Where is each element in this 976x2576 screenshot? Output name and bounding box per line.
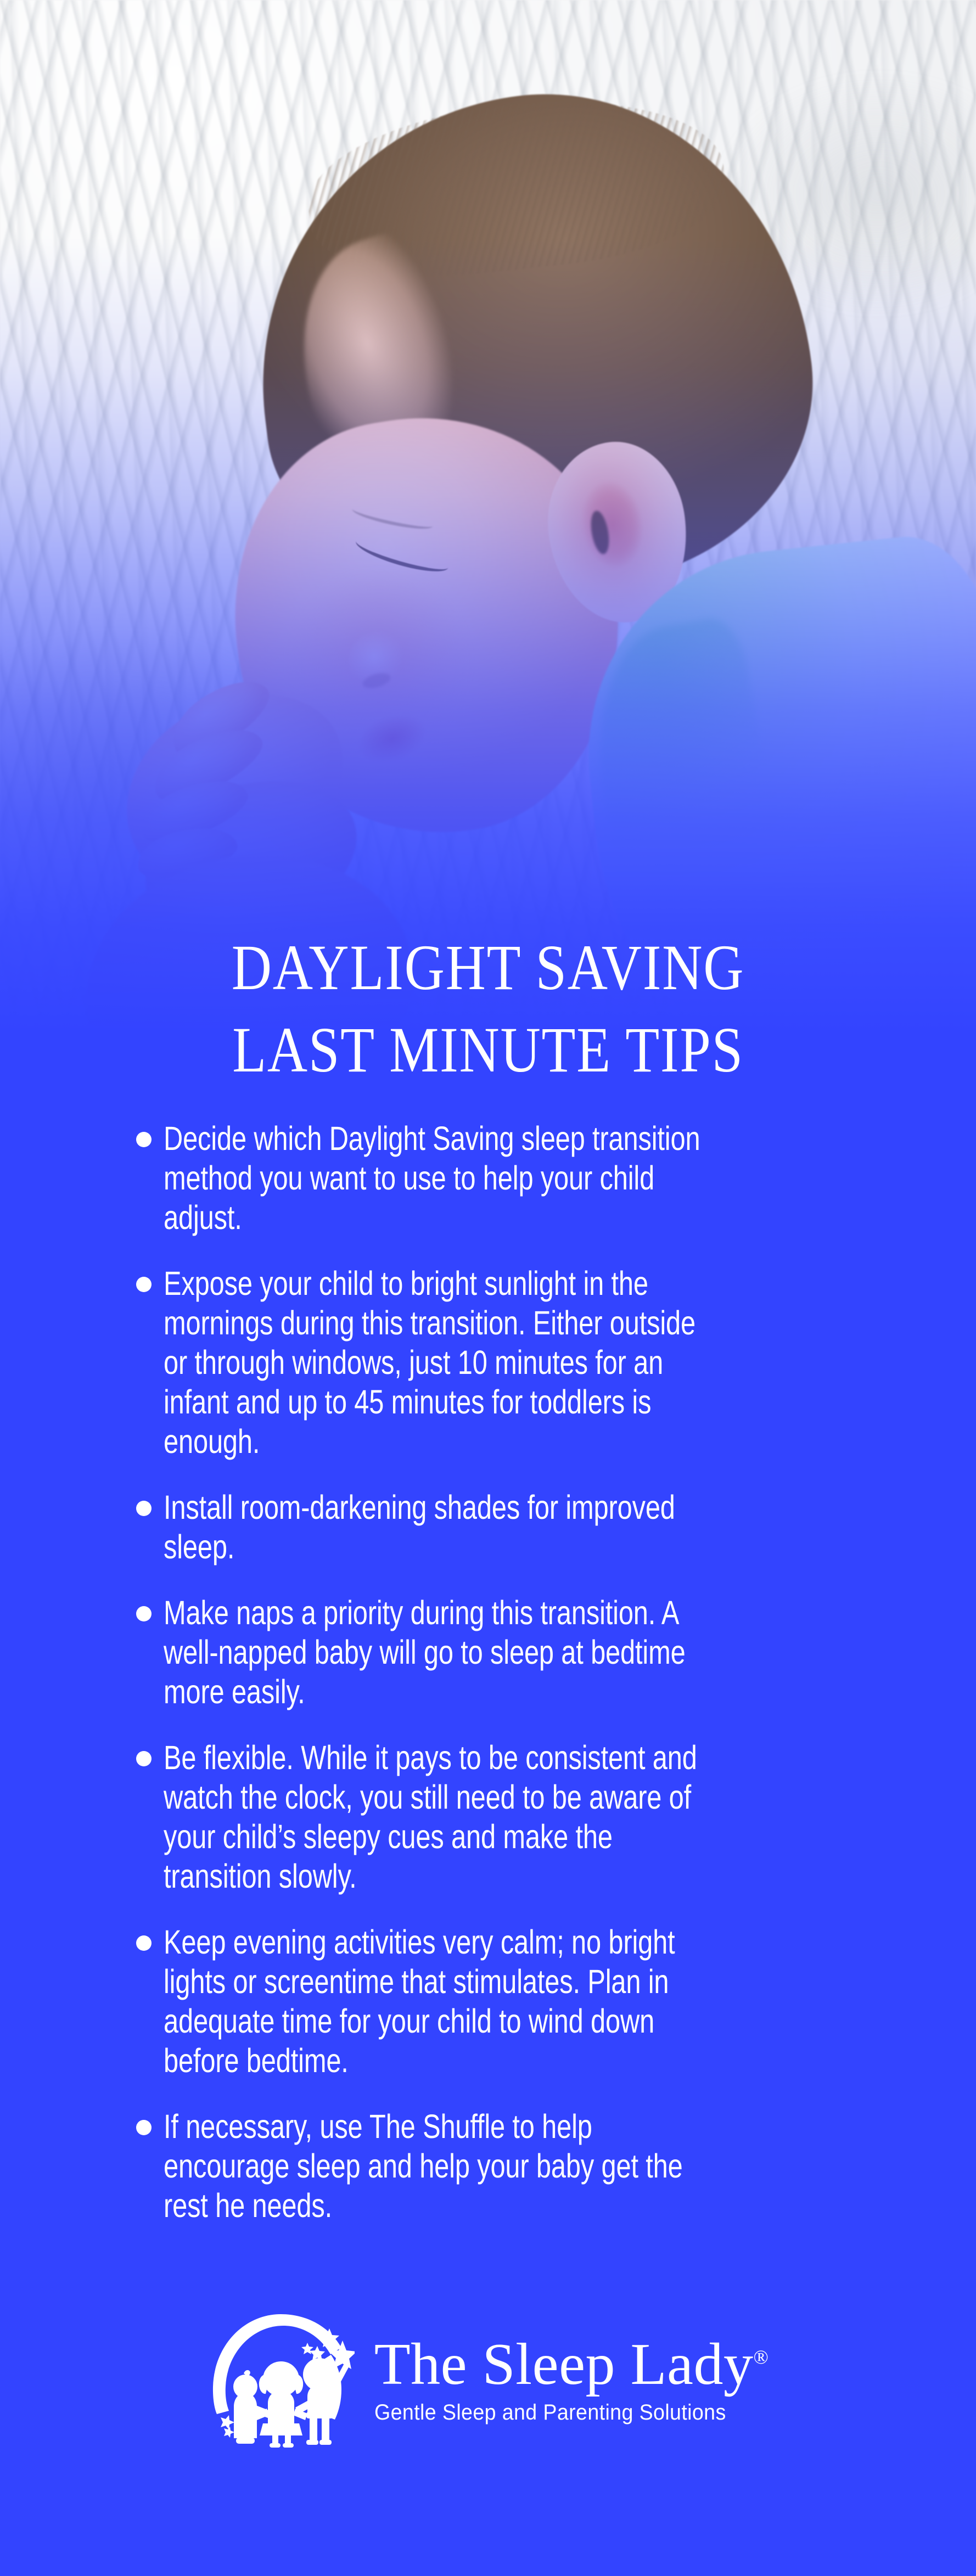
tip-text: If necessary, use The Shuffle to help en…	[164, 2107, 708, 2225]
bullet-icon	[136, 1606, 152, 1621]
tip-text: Decide which Daylight Saving sleep trans…	[164, 1119, 708, 1237]
list-item: Keep evening activities very calm; no br…	[136, 1922, 844, 2080]
tip-text: Make naps a priority during this transit…	[164, 1593, 708, 1711]
list-item: Expose your child to bright sunlight in …	[136, 1264, 844, 1461]
infographic-poster: Daylight Saving Last Minute Tips Decide …	[0, 0, 976, 2576]
brand-logo[interactable]: The Sleep Lady® Gentle Sleep and Parenti…	[0, 2310, 976, 2448]
tip-text: Be flexible. While it pays to be consist…	[164, 1738, 708, 1896]
tip-text: Install room-darkening shades for improv…	[164, 1488, 708, 1567]
brand-name: The Sleep Lady®	[374, 2333, 769, 2397]
bullet-icon	[136, 1751, 152, 1766]
bullet-icon	[136, 1277, 152, 1292]
tips-list: Decide which Daylight Saving sleep trans…	[136, 1119, 844, 2225]
list-item: Decide which Daylight Saving sleep trans…	[136, 1119, 844, 1237]
brand-tagline: Gentle Sleep and Parenting Solutions	[374, 2400, 745, 2425]
bullet-icon	[136, 1935, 152, 1951]
bullet-icon	[136, 1132, 152, 1147]
list-item: If necessary, use The Shuffle to help en…	[136, 2107, 844, 2225]
tip-text: Keep evening activities very calm; no br…	[164, 1922, 708, 2080]
sleep-lady-crescent-children-icon	[207, 2310, 355, 2448]
registered-trademark-icon: ®	[753, 2346, 769, 2368]
bullet-icon	[136, 1501, 152, 1516]
tip-text: Expose your child to bright sunlight in …	[164, 1264, 708, 1461]
list-item: Make naps a priority during this transit…	[136, 1593, 844, 1711]
brand-logo-text: The Sleep Lady® Gentle Sleep and Parenti…	[374, 2333, 769, 2425]
title-line-2: Last Minute Tips	[68, 1009, 907, 1091]
poster-content: Daylight Saving Last Minute Tips Decide …	[0, 0, 976, 2576]
title-line-1: Daylight Saving	[68, 927, 907, 1009]
bullet-icon	[136, 2120, 152, 2135]
brand-name-text: The Sleep Lady	[374, 2332, 754, 2397]
page-title: Daylight Saving Last Minute Tips	[0, 927, 976, 1091]
list-item: Be flexible. While it pays to be consist…	[136, 1738, 844, 1896]
list-item: Install room-darkening shades for improv…	[136, 1488, 844, 1567]
